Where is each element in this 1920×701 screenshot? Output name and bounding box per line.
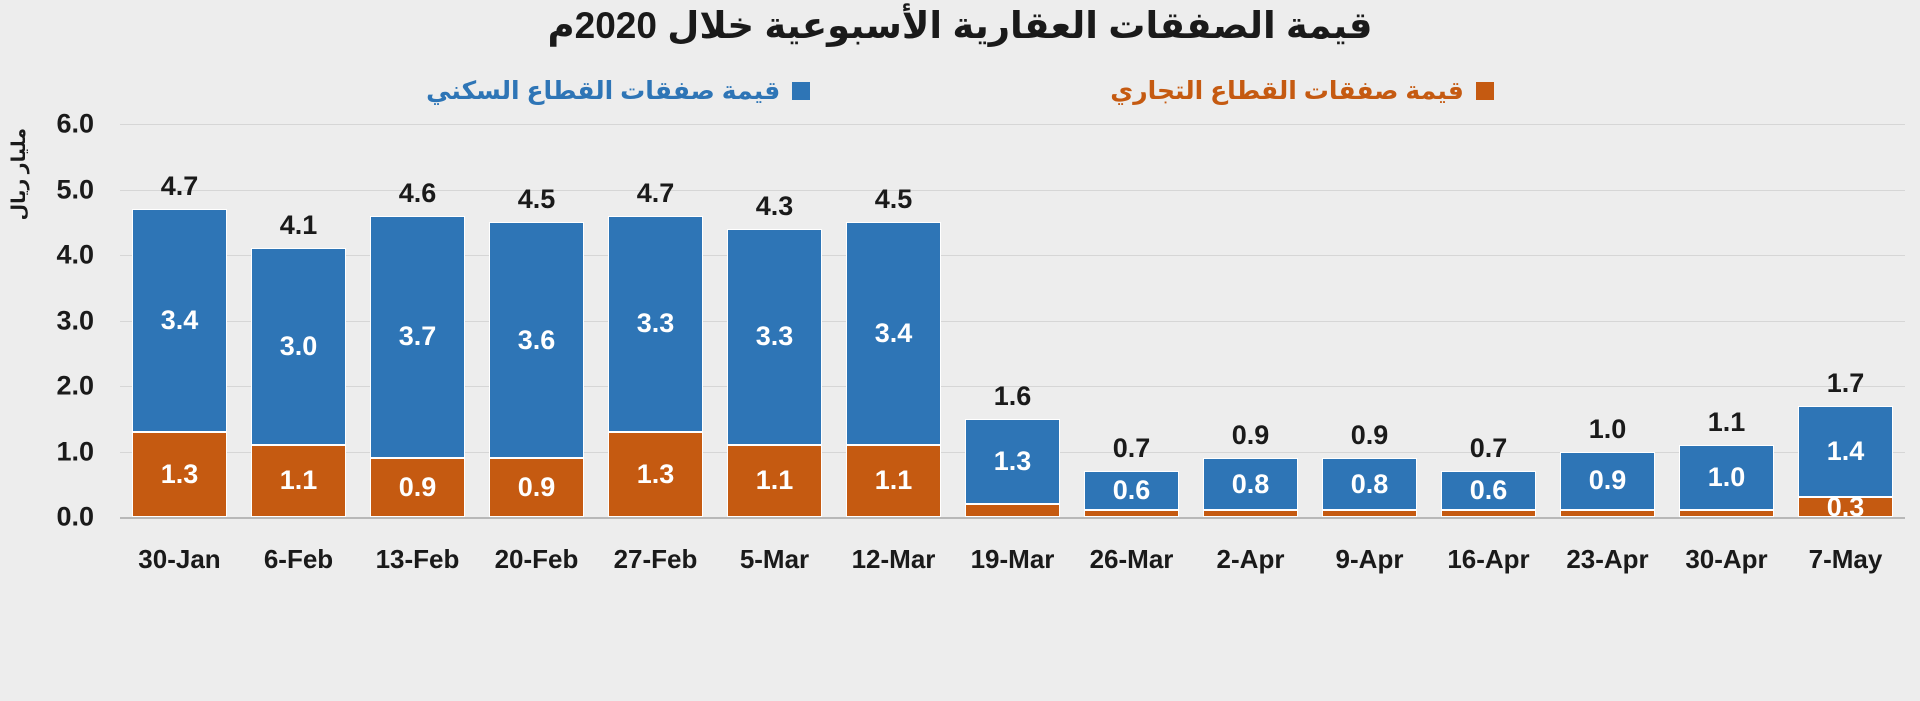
bar-segment-value-label: 3.7 [399,323,437,350]
chart-title: قيمة الصفقات العقارية الأسبوعية خلال 202… [0,4,1920,47]
bar-segment-value-label: 1.1 [280,467,318,494]
bar-group[interactable]: 1.31.6 [965,124,1060,517]
x-axis-tick-label: 12-Mar [834,544,953,575]
bar-group[interactable]: 1.33.44.7 [132,124,227,517]
x-axis-tick-label: 2-Apr [1191,544,1310,575]
bar-segment-value-label: 3.3 [756,323,794,350]
bar-segment-commercial[interactable]: 1.1 [846,445,941,517]
bar-segment-commercial[interactable] [1679,510,1774,517]
bar-segment-value-label: 1.3 [994,448,1032,475]
bar-segment-residential[interactable]: 0.6 [1084,471,1179,510]
bar-segment-commercial[interactable]: 1.1 [727,445,822,517]
bar-total-label: 1.1 [1679,409,1774,436]
legend-item-residential[interactable]: قيمة صفقات القطاع السكني [426,79,810,104]
y-axis-tick-labels: 6.05.04.03.02.01.00.0 [0,124,110,517]
x-axis-tick-label: 26-Mar [1072,544,1191,575]
bar-total-label: 4.1 [251,212,346,239]
legend-item-label: قيمة صفقات القطاع التجاري [1110,79,1464,104]
y-axis-tick-label: 5.0 [56,174,94,205]
bar-group[interactable]: 1.13.44.5 [846,124,941,517]
bar-group[interactable]: 1.01.1 [1679,124,1774,517]
bar-segment-commercial[interactable]: 0.3 [1798,497,1893,517]
bar-segment-value-label: 0.8 [1351,471,1389,498]
bar-segment-residential[interactable]: 3.4 [132,209,227,432]
bar-segment-residential[interactable]: 3.4 [846,222,941,445]
bar-total-label: 0.7 [1084,435,1179,462]
x-axis-tick-label: 23-Apr [1548,544,1667,575]
bar-segment-value-label: 1.0 [1708,464,1746,491]
bar-segment-residential[interactable]: 3.3 [608,216,703,432]
bar-segment-value-label: 3.4 [875,320,913,347]
bar-segment-residential[interactable]: 0.9 [1560,452,1655,511]
y-axis-tick-label: 6.0 [56,109,94,140]
bar-group[interactable]: 0.93.74.6 [370,124,465,517]
bar-segment-commercial[interactable]: 1.3 [608,432,703,517]
bar-segment-commercial[interactable]: 0.9 [489,458,584,517]
bar-segment-residential[interactable]: 3.6 [489,222,584,458]
gridline [120,517,1905,519]
bar-segment-residential[interactable]: 3.3 [727,229,822,445]
bar-group[interactable]: 0.60.7 [1441,124,1536,517]
bar-segment-value-label: 1.3 [161,461,199,488]
bar-group[interactable]: 0.93.64.5 [489,124,584,517]
bar-group[interactable]: 1.13.34.3 [727,124,822,517]
bar-total-label: 1.6 [965,383,1060,410]
legend-swatch-icon [1476,82,1494,100]
bar-group[interactable]: 1.13.04.1 [251,124,346,517]
bar-segment-residential[interactable]: 3.0 [251,248,346,445]
x-axis-tick-label: 30-Jan [120,544,239,575]
bar-segment-value-label: 1.1 [756,467,794,494]
bar-group[interactable]: 0.60.7 [1084,124,1179,517]
bar-segment-value-label: 3.3 [637,310,675,337]
bar-segment-value-label: 0.9 [518,474,556,501]
bar-total-label: 4.5 [846,186,941,213]
bar-segment-commercial[interactable]: 1.3 [132,432,227,517]
bar-segment-residential[interactable]: 3.7 [370,216,465,458]
bar-group[interactable]: 0.80.9 [1203,124,1298,517]
bar-segment-commercial[interactable] [1084,510,1179,517]
bar-total-label: 4.3 [727,193,822,220]
x-axis-tick-label: 19-Mar [953,544,1072,575]
bar-segment-value-label: 1.3 [637,461,675,488]
bar-total-label: 1.0 [1560,416,1655,443]
bar-segment-residential[interactable]: 0.8 [1322,458,1417,510]
bar-total-label: 0.7 [1441,435,1536,462]
bar-total-label: 4.5 [489,186,584,213]
bar-segment-commercial[interactable]: 0.9 [370,458,465,517]
y-axis-tick-label: 2.0 [56,371,94,402]
bar-group[interactable]: 1.33.34.7 [608,124,703,517]
bar-segment-commercial[interactable] [1441,510,1536,517]
chart-container: قيمة الصفقات العقارية الأسبوعية خلال 202… [0,0,1920,701]
bar-segment-residential[interactable]: 0.6 [1441,471,1536,510]
bar-group[interactable]: 0.80.9 [1322,124,1417,517]
bar-segment-residential[interactable]: 1.4 [1798,406,1893,498]
bar-segment-value-label: 3.0 [280,333,318,360]
x-axis-tick-label: 9-Apr [1310,544,1429,575]
bar-total-label: 4.7 [132,173,227,200]
bar-segment-value-label: 3.6 [518,327,556,354]
y-axis-tick-label: 3.0 [56,305,94,336]
bar-segment-value-label: 0.3 [1827,494,1865,521]
bar-segment-commercial[interactable] [1322,510,1417,517]
chart-legend: قيمة صفقات القطاع التجاريقيمة صفقات القط… [0,74,1920,108]
bar-group[interactable]: 0.31.41.7 [1798,124,1893,517]
x-axis-tick-label: 16-Apr [1429,544,1548,575]
bar-segment-value-label: 0.6 [1470,477,1508,504]
bar-total-label: 4.7 [608,180,703,207]
bar-segment-commercial[interactable] [1560,510,1655,517]
x-axis-tick-labels: 30-Jan6-Feb13-Feb20-Feb27-Feb5-Mar12-Mar… [120,530,1905,580]
legend-swatch-icon [792,82,810,100]
x-axis-tick-label: 5-Mar [715,544,834,575]
legend-item-label: قيمة صفقات القطاع السكني [426,79,780,104]
bar-segment-commercial[interactable]: 1.1 [251,445,346,517]
x-axis-tick-label: 7-May [1786,544,1905,575]
bar-segment-commercial[interactable] [965,504,1060,517]
bar-total-label: 0.9 [1322,422,1417,449]
bar-group[interactable]: 0.91.0 [1560,124,1655,517]
y-axis-tick-label: 1.0 [56,436,94,467]
bar-series-group: 1.33.44.71.13.04.10.93.74.60.93.64.51.33… [120,124,1905,517]
bar-segment-residential[interactable]: 0.8 [1203,458,1298,510]
bar-total-label: 4.6 [370,180,465,207]
bar-total-label: 0.9 [1203,422,1298,449]
bar-segment-value-label: 1.1 [875,467,913,494]
bar-segment-value-label: 0.8 [1232,471,1270,498]
bar-segment-value-label: 3.4 [161,307,199,334]
bar-segment-residential[interactable]: 1.0 [1679,445,1774,511]
x-axis-tick-label: 13-Feb [358,544,477,575]
bar-segment-value-label: 0.6 [1113,477,1151,504]
y-axis-tick-label: 4.0 [56,240,94,271]
y-axis-tick-label: 0.0 [56,502,94,533]
bar-segment-value-label: 0.9 [399,474,437,501]
plot-area: 1.33.44.71.13.04.10.93.74.60.93.64.51.33… [120,124,1905,517]
x-axis-tick-label: 27-Feb [596,544,715,575]
legend-item-commercial[interactable]: قيمة صفقات القطاع التجاري [1110,79,1494,104]
bar-total-label: 1.7 [1798,370,1893,397]
bar-segment-value-label: 0.9 [1589,467,1627,494]
bar-segment-commercial[interactable] [1203,510,1298,517]
x-axis-tick-label: 30-Apr [1667,544,1786,575]
bar-segment-residential[interactable]: 1.3 [965,419,1060,504]
x-axis-tick-label: 20-Feb [477,544,596,575]
bar-segment-value-label: 1.4 [1827,438,1865,465]
x-axis-tick-label: 6-Feb [239,544,358,575]
